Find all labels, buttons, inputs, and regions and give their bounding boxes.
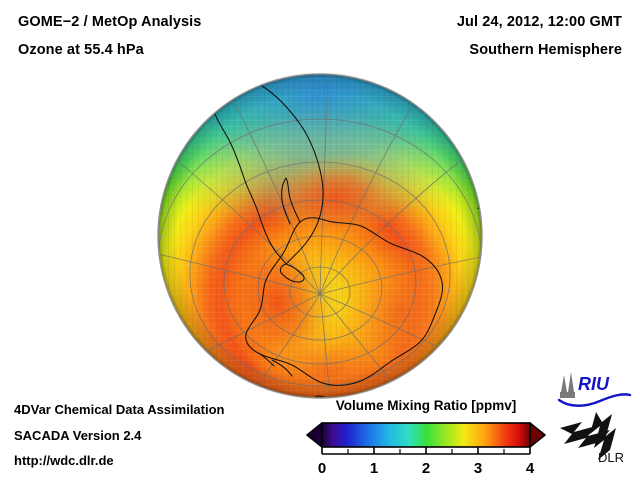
page-subtitle: Ozone at 55.4 hPa bbox=[18, 42, 144, 58]
ozone-globe-map bbox=[150, 66, 490, 406]
colorbar-major-ticks bbox=[322, 447, 530, 454]
globe-svg bbox=[150, 66, 490, 406]
dlr-logo: DLR bbox=[560, 412, 624, 465]
colorbar-tick-4: 4 bbox=[526, 460, 535, 477]
coastline-australia bbox=[480, 180, 490, 185]
colorbar-extend-max bbox=[530, 423, 545, 447]
footer-line-1: 4DVar Chemical Data Assimilation bbox=[14, 402, 225, 417]
colorbar-tick-1: 1 bbox=[370, 460, 378, 477]
colorbar-extend-min bbox=[307, 423, 322, 447]
page-title: GOME−2 / MetOp Analysis bbox=[18, 14, 201, 30]
footer-line-2: SACADA Version 2.4 bbox=[14, 428, 141, 443]
colorbar: Volume Mixing Ratio [ppmv] bbox=[300, 398, 552, 476]
colorbar-title: Volume Mixing Ratio [ppmv] bbox=[300, 398, 552, 413]
colorbar-tick-3: 3 bbox=[474, 460, 482, 477]
figure-canvas: GOME−2 / MetOp Analysis Ozone at 55.4 hP… bbox=[0, 0, 640, 480]
colorbar-gradient bbox=[322, 423, 530, 447]
timestamp-label: Jul 24, 2012, 12:00 GMT bbox=[457, 14, 622, 30]
cathedral-icon bbox=[560, 372, 575, 398]
dlr-wordmark: DLR bbox=[598, 450, 624, 465]
colorbar-svg: 0 1 2 3 4 bbox=[300, 420, 552, 478]
riu-logo: RIU bbox=[559, 372, 630, 406]
riu-wordmark: RIU bbox=[578, 374, 610, 394]
colorbar-tick-0: 0 bbox=[318, 460, 326, 477]
coastline-africa-east bbox=[468, 66, 490, 126]
colorbar-tick-2: 2 bbox=[422, 460, 430, 477]
footer-url[interactable]: http://wdc.dlr.de bbox=[14, 453, 114, 468]
colorbar-tick-labels: 0 1 2 3 4 bbox=[318, 460, 535, 477]
coastline-africa bbox=[459, 66, 490, 174]
logos: RIU DLR bbox=[552, 370, 638, 466]
logos-svg: RIU DLR bbox=[552, 370, 638, 466]
hemisphere-label: Southern Hemisphere bbox=[469, 42, 622, 58]
